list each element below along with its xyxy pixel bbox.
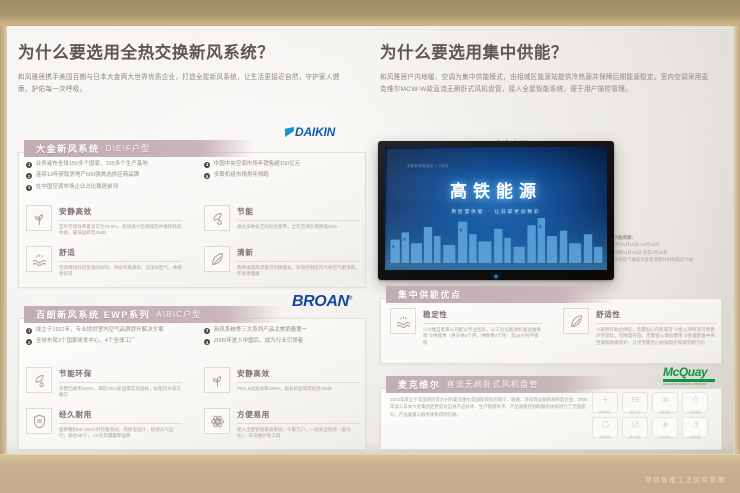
bullet-number: 2: [26, 173, 32, 179]
photo-watermark: 项目售楼工法区实景图: [645, 474, 726, 484]
mcquay-bar-sub: 直流无刷卧式风机盘管: [446, 379, 538, 390]
touch-icon: [691, 416, 700, 434]
tile-label: 无刷风机: [599, 435, 611, 439]
bullet-item: 1 成立于1932年，专业提供室内空气品质提升解决方案: [26, 327, 204, 334]
cycle-line-2: 供暖11月15日-次年3月15日: [614, 249, 734, 256]
tile-label: 超薄机身: [599, 410, 611, 414]
right-headline: 为什么要选用集中供能？: [380, 44, 722, 64]
feature-title: 安静高效: [59, 206, 182, 221]
tile-label: 恒温除湿: [689, 410, 701, 414]
broan-wordmark: BROAN: [292, 293, 349, 310]
broan-features: 节能环保 热量回收率≥55%，满足2021新国家实验国标，标配可水洗交换芯 安静…: [26, 367, 360, 440]
bullet-item: 2 连续13年获取房地产500强首选供应商品牌: [26, 172, 204, 179]
feature-title: 节能: [237, 206, 360, 221]
daikin-swoosh-icon: [285, 127, 294, 137]
tile-label: 冷暖运行: [659, 410, 671, 414]
tile-drop: 恒温除湿: [682, 392, 708, 413]
feature-desc: 通过多种技艺的综合使用，全年空调负荷降低33%: [237, 224, 360, 231]
feature-desc: 提供整机80-100小时检查测试，内保温设计，极端天气运行；高达65℃，-15天…: [59, 427, 182, 441]
feature-card: 安静高效 PM2.5过滤效率≥99%，超长机型噪音低至25dB: [204, 367, 360, 399]
bullet-text: 在中国空调市场企业占比稳居前列: [36, 184, 118, 191]
feature-body: 节能 通过多种技艺的综合使用，全年空调负荷降低33%: [237, 205, 360, 230]
bullet-item: 5 多联机组市场常年领跑: [204, 172, 362, 179]
feature-title: 方便易用: [237, 409, 360, 424]
advantages-section-bar: 集中供能优点: [386, 286, 614, 303]
feature-desc: 两种送风风流量可切换模式，有效控制区内气体空气更清新，环境更健康: [237, 265, 360, 279]
slim-icon: [601, 391, 610, 409]
feature-title: 节能环保: [59, 368, 182, 383]
wave-icon: [390, 308, 416, 334]
tile-label: IAQ净化: [660, 435, 671, 439]
bullet-number: 4: [204, 339, 210, 345]
tv-tiny-text: 高铁新城能源站 2.0项目: [407, 163, 449, 168]
advantages-features: 稳定性 ①沙维自能来公司配以专业团队，以工业化能源标准运维保障 ②供能季（供冷季…: [390, 308, 716, 347]
daikin-wordmark-row: DAIKIN: [285, 126, 738, 138]
bullet-number: 1: [26, 162, 32, 168]
daikin-bar-sub: D\E\F户型: [106, 143, 151, 154]
bullet-number: 3: [26, 185, 32, 191]
broan-bullets-right: 3 新风系统等三大系列产品北美销量第一 4 2005年进入中国后，成为行业引领者: [204, 327, 362, 345]
mcquay-wordmark: McQuay: [663, 366, 738, 378]
feature-title: 安静高效: [237, 368, 360, 383]
tile-label: 静音低噪: [629, 435, 641, 439]
bullet-number: 4: [204, 162, 210, 168]
feature-body: 方便易用 接入全屋智能家居系统；千家万户，一站式全检修（金马达）；日常维护免工具: [237, 408, 360, 440]
tile-touch: 远程智能: [682, 417, 708, 438]
daikin-bullets-right: 4 中国中央空调市场年销售超100亿元 5 多联机组市场常年领跑: [204, 161, 362, 191]
bullet-item: 1 业务遍布全球150多个国家，100多个生产基地: [26, 161, 204, 168]
feather-icon: [204, 246, 230, 272]
bullet-text: 全球布局3个国家研发中心，4个全球工厂: [36, 338, 136, 345]
snow-icon: [661, 391, 670, 409]
right-column: 为什么要选用集中供能？ 和风雅居户内地暖、空调为集中供能模式，由相城区能源站提供…: [380, 44, 722, 96]
feature-card: 稳定性 ①沙维自能来公司配以专业团队，以工业化能源标准运维保障 ②供能季（供冷季…: [390, 308, 543, 347]
mcquay-logo: McQuay A DAIKIN GROUP COMPANY: [663, 366, 738, 386]
feature-card: 清新 两种送风风流量可切换模式，有效控制区内气体空气更清新，环境更健康: [204, 246, 360, 278]
feature-title: 稳定性: [423, 309, 543, 324]
feature-card: 经久耐用 提供整机80-100小时检查测试，内保温设计，极端天气运行；高达65℃…: [26, 408, 182, 440]
tile-quiet: 静音低噪: [622, 417, 648, 438]
bullet-number: 1: [26, 328, 32, 334]
mcquay-section-bar: 麦克维尔 直流无刷卧式风机盘管: [386, 376, 610, 393]
feature-body: 节能环保 热量回收率≥55%，满足2021新国家实验国标，标配可水洗交换芯: [59, 367, 182, 399]
feature-title: 舒适性: [596, 309, 716, 324]
showroom-wall-scene: 为什么要选用全热交换新风系统？ 和风雅居携手美国百朗与日本大金两大世界优质企业，…: [0, 0, 740, 493]
bullet-text: 新风系统等三大系列产品北美销量第一: [214, 327, 307, 334]
skyline-graphic: [385, 209, 607, 263]
daikin-bullets-left: 1 业务遍布全球150多个国家，100多个生产基地 2 连续13年获取房地产50…: [26, 161, 204, 191]
bullet-text: 中国中央空调市场年销售超100亿元: [214, 161, 300, 168]
wave-icon: [26, 246, 52, 272]
left-lede: 和风雅居携手美国百朗与日本大金两大世界优质企业，打造全屋新风系统，让生活更接近自…: [18, 72, 353, 96]
feature-body: 清新 两种送风风流量可切换模式，有效控制区内气体空气更清新，环境更健康: [237, 246, 360, 278]
bullet-number: 5: [204, 173, 210, 179]
feature-title: 经久耐用: [59, 409, 182, 424]
mcquay-feature-tiles: 超薄机身 内置全静 冷暖运行 恒温除湿 无刷风机: [592, 392, 708, 438]
broan-bullets: 1 成立于1932年，专业提供室内空气品质提升解决方案 2 全球布局3个国家研发…: [26, 327, 362, 345]
feature-desc: 室外空调效率最高可达79.5%，有效减小空调噪音并维持舒适体感，最低运转音25d…: [59, 224, 182, 238]
leaf-drop-icon: [26, 367, 52, 393]
feature-desc: 接入全屋智能家居系统；千家万户，一站式全检修（金马达）；日常维护免工具: [237, 427, 360, 441]
feature-card: 安静高效 室外空调效率最高可达79.5%，有效减小空调噪音并维持舒适体感，最低运…: [26, 205, 182, 237]
feature-desc: PM2.5过滤效率≥99%，超长机型噪音低至25dB: [237, 386, 360, 393]
layers-icon: [631, 391, 640, 409]
bullet-item: 4 中国中央空调市场年销售超100亿元: [204, 161, 362, 168]
daikin-features: 安静高效 室外空调效率最高可达79.5%，有效减小空调噪音并维持舒适体感，最低运…: [26, 205, 360, 278]
feature-desc: ①沙维自能来公司配以专业团队，以工业化能源标准运维保障 ②供能季（供冷季5个月，…: [423, 327, 543, 347]
tile-snow: 冷暖运行: [652, 392, 678, 413]
mcquay-bar-title: 麦克维尔: [398, 378, 440, 391]
bullet-item: 3 在中国空调市场企业占比稳居前列: [26, 184, 204, 191]
daikin-bar-title: 大金新风系统: [36, 142, 100, 155]
advantages-bar-title: 集中供能优点: [398, 288, 462, 301]
feature-card: 节能环保 热量回收率≥55%，满足2021新国家实验国标，标配可水洗交换芯: [26, 367, 182, 399]
cycle-line-3: 各场馆气候差异变化逐期开机按临近气候: [614, 256, 734, 263]
feature-card: 方便易用 接入全屋智能家居系统；千家万户，一站式全检修（金马达）；日常维护免工具: [204, 408, 360, 440]
left-column: 为什么要选用全热交换新风系统？ 和风雅居携手美国百朗与日本大金两大世界优质企业，…: [18, 44, 366, 96]
broan-registered-icon: ®: [349, 296, 352, 302]
leaf-drop-icon: [204, 205, 230, 231]
tile-label: 内置全静: [629, 410, 641, 414]
right-lede: 和风雅居户内地暖、空调为集中供能模式，由相城区能源站提供冷热源并保障后期能源稳定…: [380, 72, 715, 96]
wall-mounted-tv[interactable]: 高铁新城能源站 2.0项目 高铁能源 用智慧供能 · 让低碳更加精彩: [378, 141, 614, 280]
feature-card: 舒适 空调保持舒适室温的同时，持续带来清新、洁净的空气，体感更舒适: [26, 246, 182, 278]
left-headline: 为什么要选用全热交换新风系统？: [18, 44, 366, 64]
shield-icon: [26, 408, 52, 434]
tv-power-led-icon: [495, 275, 498, 278]
feature-desc: 空调保持舒适室温的同时，持续带来清新、洁净的空气，体感更舒适: [59, 265, 182, 279]
feature-body: 安静高效 PM2.5过滤效率≥99%，超长机型噪音低至25dB: [237, 367, 360, 392]
bullet-text: 业务遍布全球150多个国家，100多个生产基地: [36, 161, 148, 168]
feature-card: 节能 通过多种技艺的综合使用，全年空调负荷降低33%: [204, 205, 360, 237]
supply-cycle-note: 供能周期： 供冷5月15日-10月15日 供暖11月15日-次年3月15日 各场…: [614, 234, 734, 263]
feature-title: 舒适: [59, 247, 182, 262]
tile-layers: 内置全静: [622, 392, 648, 413]
cycle-title: 供能周期：: [614, 234, 734, 241]
broan-section-bar: 百朗新风系统 EWP系列 A\B\C户型: [24, 306, 282, 323]
bullet-text: 多联机组市场常年领跑: [214, 172, 269, 179]
feature-body: 舒适性 ①采用包吸式供应，无需担心内机噪音 ②接入项目旨可免费声空调比，可随意开…: [596, 308, 716, 347]
mcquay-logo-tagline: A DAIKIN GROUP COMPANY: [663, 382, 738, 386]
ceiling-frame: [0, 0, 740, 28]
feature-body: 安静高效 室外空调效率最高可达79.5%，有效减小空调噪音并维持舒适体感，最低运…: [59, 205, 182, 237]
bullet-number: 2: [26, 339, 32, 345]
cycle-line-1: 供冷5月15日-10月15日: [614, 241, 734, 248]
daikin-wordmark: DAIKIN: [295, 126, 335, 138]
feature-desc: ①采用包吸式供应，无需担心内机噪音 ②接入项目旨可免费声空调比，可随意开放，无需…: [596, 327, 716, 347]
circle-icon: [601, 416, 610, 434]
mcquay-description: 1872年成立于美国明尼苏达州的麦克维尔是国际领先的制冷、暖通、净化等设备研发制…: [390, 396, 590, 418]
plant-fan-icon: [26, 205, 52, 231]
feature-body: 稳定性 ①沙维自能来公司配以专业团队，以工业化能源标准运维保障 ②供能季（供冷季…: [423, 308, 543, 347]
quiet-icon: [631, 416, 640, 434]
bullet-item: 4 2005年进入中国后，成为行业引领者: [204, 338, 362, 345]
broan-bullets-left: 1 成立于1932年，专业提供室内空气品质提升解决方案 2 全球布局3个国家研发…: [26, 327, 204, 345]
bullet-text: 成立于1932年，专业提供室内空气品质提升解决方案: [36, 327, 164, 334]
bullet-number: 3: [204, 328, 210, 334]
tv-title: 高铁能源: [385, 177, 607, 202]
iaq-icon: [661, 416, 670, 434]
feature-card: 舒适性 ①采用包吸式供应，无需担心内机噪音 ②接入项目旨可免费声空调比，可随意开…: [563, 308, 716, 347]
broan-bar-title: 百朗新风系统 EWP系列: [36, 308, 150, 321]
feature-title: 清新: [237, 247, 360, 262]
bullet-text: 连续13年获取房地产500强首选供应商品牌: [36, 172, 139, 179]
tile-iaq: IAQ净化: [652, 417, 678, 438]
bullet-item: 3 新风系统等三大系列产品北美销量第一: [204, 327, 362, 334]
feature-desc: 热量回收率≥55%，满足2021新国家实验国标，标配可水洗交换芯: [59, 386, 182, 400]
tile-slim: 超薄机身: [592, 392, 618, 413]
molecule-icon: [204, 408, 230, 434]
tile-label: 远程智能: [689, 435, 701, 439]
bullet-item: 2 全球布局3个国家研发中心，4个全球工厂: [26, 338, 204, 345]
daikin-bullets: 1 业务遍布全球150多个国家，100多个生产基地 2 连续13年获取房地产50…: [26, 161, 362, 191]
daikin-section-bar: 大金新风系统 D\E\F户型: [24, 140, 254, 157]
floor-frame: [0, 455, 740, 493]
drop-icon: [691, 391, 700, 409]
feather-icon: [563, 308, 589, 334]
feature-body: 舒适 空调保持舒适室温的同时，持续带来清新、洁净的空气，体感更舒适: [59, 246, 182, 278]
plant-fan-icon: [204, 367, 230, 393]
wall-seam: [7, 28, 733, 30]
bullet-text: 2005年进入中国后，成为行业引领者: [214, 338, 303, 345]
feature-body: 经久耐用 提供整机80-100小时检查测试，内保温设计，极端天气运行；高达65℃…: [59, 408, 182, 440]
tv-screen[interactable]: 高铁新城能源站 2.0项目 高铁能源 用智慧供能 · 让低碳更加精彩: [385, 147, 607, 270]
broan-bar-sub: A\B\C户型: [156, 309, 201, 320]
tile-circle: 无刷风机: [592, 417, 618, 438]
